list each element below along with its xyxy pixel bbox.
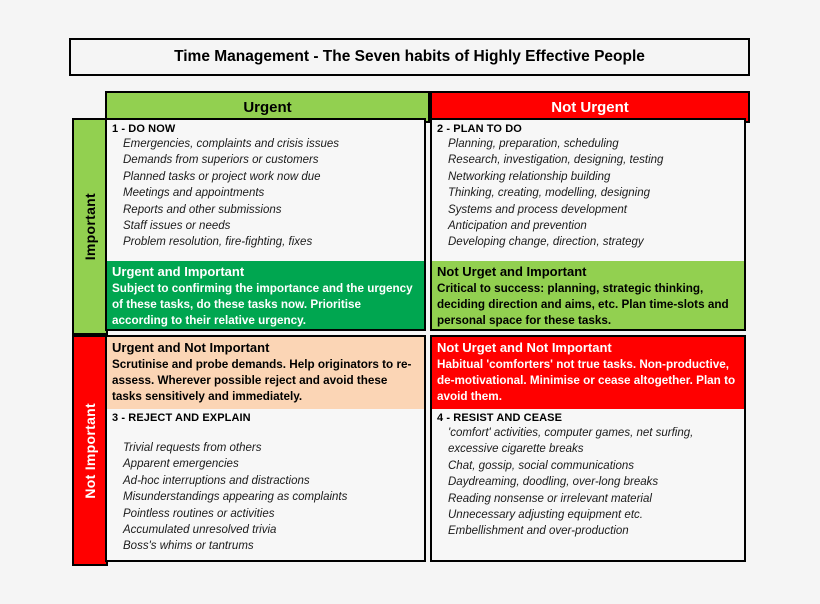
list-item: 'comfort' activities, computer games, ne… [448, 425, 744, 458]
quadrant-4-lower: 4 - RESIST AND CEASE 'comfort' activitie… [432, 409, 744, 560]
list-item: Emergencies, complaints and crisis issue… [123, 136, 424, 152]
page-title: Time Management - The Seven habits of Hi… [174, 48, 645, 66]
list-item: Pointless routines or activities [123, 506, 424, 522]
quadrant-1-summary: Urgent and Important Subject to confirmi… [107, 261, 424, 329]
quadrant-3-summary-title: Urgent and Not Important [112, 340, 418, 356]
list-item: Demands from superiors or customers [123, 152, 424, 168]
quadrant-4-resist-and-cease: Not Urget and Not Important Habitual 'co… [430, 335, 746, 562]
list-item: Trivial requests from others [123, 440, 424, 456]
quadrant-4-summary: Not Urget and Not Important Habitual 'co… [432, 337, 744, 409]
list-item: Ad-hoc interruptions and distractions [123, 473, 424, 489]
row-header-important: Important [72, 118, 108, 335]
list-item: Reports and other submissions [123, 202, 424, 218]
list-item: Chat, gossip, social communications [448, 458, 744, 474]
list-item: Embellishment and over-production [448, 523, 744, 539]
list-item: Developing change, direction, strategy [448, 234, 744, 250]
quadrant-2-plan-to-do: 2 - PLAN TO DO Planning, preparation, sc… [430, 118, 746, 331]
list-item: Apparent emergencies [123, 456, 424, 472]
quadrant-2-summary-body: Critical to success: planning, strategic… [437, 281, 738, 330]
list-item: Reading nonsense or irrelevant material [448, 491, 744, 507]
list-item: Anticipation and prevention [448, 218, 744, 234]
quadrant-3-summary: Urgent and Not Important Scrutinise and … [107, 337, 424, 409]
column-header-urgent-label: Urgent [243, 99, 291, 116]
list-item: Planned tasks or project work now due [123, 169, 424, 185]
quadrant-3-list: Trivial requests from others Apparent em… [107, 425, 424, 555]
quadrant-3-lower: 3 - REJECT AND EXPLAIN Trivial requests … [107, 409, 424, 560]
time-management-matrix: Time Management - The Seven habits of Hi… [0, 0, 820, 604]
list-item: Planning, preparation, scheduling [448, 136, 744, 152]
list-item: Daydreaming, doodling, over-long breaks [448, 474, 744, 490]
list-item: Research, investigation, designing, test… [448, 152, 744, 168]
row-header-not-important-label: Not Important [82, 403, 98, 499]
quadrant-1-do-now: 1 - DO NOW Emergencies, complaints and c… [105, 118, 426, 331]
list-item: Misunderstandings appearing as complaint… [123, 489, 424, 505]
list-item: Systems and process development [448, 202, 744, 218]
quadrant-4-summary-body: Habitual 'comforters' not true tasks. No… [437, 357, 738, 406]
list-item: Unnecessary adjusting equipment etc. [448, 507, 744, 523]
quadrant-1-list: Emergencies, complaints and crisis issue… [107, 136, 424, 251]
quadrant-4-heading: 4 - RESIST AND CEASE [432, 409, 744, 425]
quadrant-2-list: Planning, preparation, scheduling Resear… [432, 136, 744, 251]
list-item: Meetings and appointments [123, 185, 424, 201]
list-item: Thinking, creating, modelling, designing [448, 185, 744, 201]
list-item: Staff issues or needs [123, 218, 424, 234]
quadrant-4-list: 'comfort' activities, computer games, ne… [432, 425, 744, 540]
quadrant-1-heading: 1 - DO NOW [107, 120, 424, 136]
quadrant-3-summary-body: Scrutinise and probe demands. Help origi… [112, 357, 418, 406]
quadrant-1-summary-body: Subject to confirming the importance and… [112, 281, 418, 330]
quadrant-3-reject-and-explain: Urgent and Not Important Scrutinise and … [105, 335, 426, 562]
quadrant-1-summary-title: Urgent and Important [112, 264, 418, 280]
quadrant-3-heading: 3 - REJECT AND EXPLAIN [107, 409, 424, 425]
quadrant-2-summary-title: Not Urget and Important [437, 264, 738, 280]
quadrant-2-heading: 2 - PLAN TO DO [432, 120, 744, 136]
column-header-not-urgent-label: Not Urgent [551, 99, 629, 116]
list-item: Networking relationship building [448, 169, 744, 185]
page-title-box: Time Management - The Seven habits of Hi… [69, 38, 750, 76]
list-item: Accumulated unresolved trivia [123, 522, 424, 538]
quadrant-4-summary-title: Not Urget and Not Important [437, 340, 738, 356]
list-item: Problem resolution, fire-fighting, fixes [123, 234, 424, 250]
list-item: Boss's whims or tantrums [123, 538, 424, 554]
quadrant-2-summary: Not Urget and Important Critical to succ… [432, 261, 744, 329]
row-header-important-label: Important [82, 193, 98, 260]
row-header-not-important: Not Important [72, 335, 108, 566]
